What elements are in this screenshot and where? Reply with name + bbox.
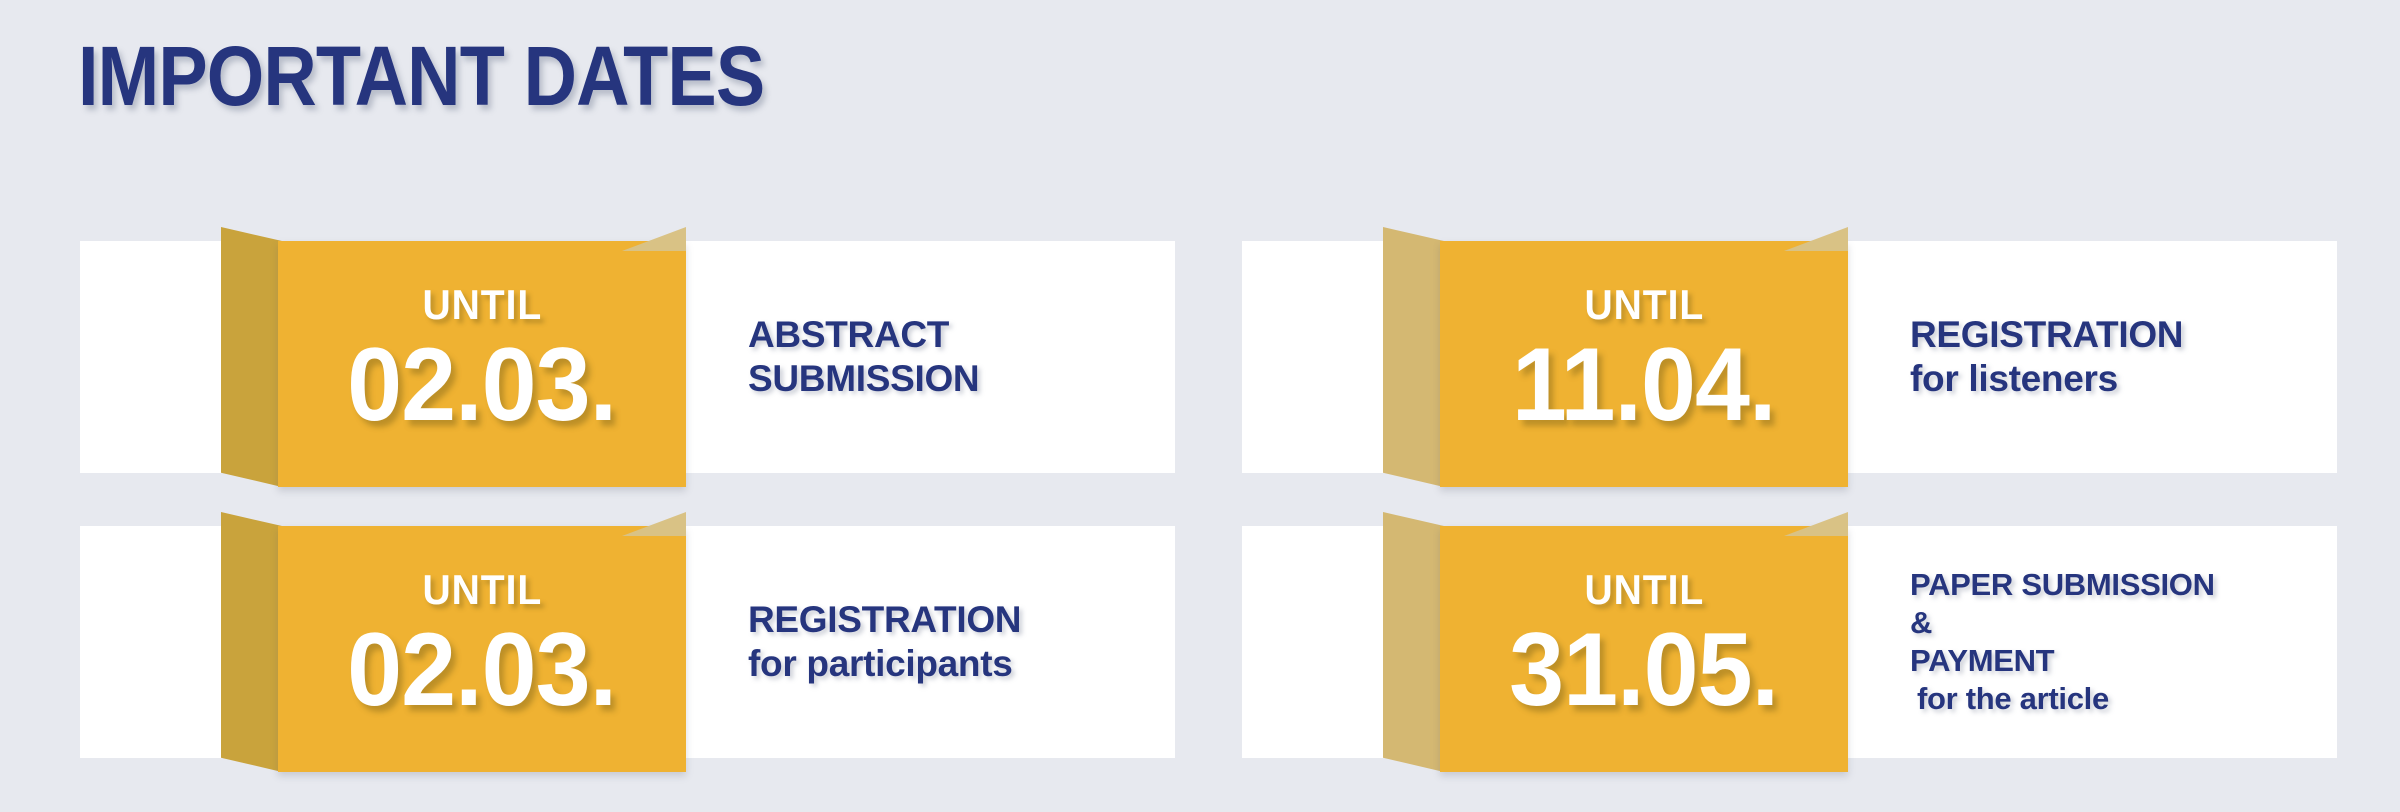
important-dates-page: IMPORTANT DATES UNTIL 02.03. ABSTRACT SU… bbox=[0, 0, 2400, 812]
card-label-line: REGISTRATION bbox=[1910, 313, 2330, 357]
ribbon-fold-left-icon bbox=[221, 227, 282, 487]
ribbon-until-label: UNTIL bbox=[1584, 284, 1704, 326]
ribbon-date-value: 31.05. bbox=[1510, 617, 1779, 723]
card-label-line: for listeners bbox=[1910, 357, 2330, 401]
ribbon-until-label: UNTIL bbox=[422, 569, 542, 611]
card-label: ABSTRACT SUBMISSION bbox=[748, 241, 1168, 473]
date-card-registration-participants: UNTIL 02.03. REGISTRATION for participan… bbox=[80, 526, 1175, 758]
date-ribbon: UNTIL 31.05. bbox=[1383, 512, 1848, 772]
card-label-line: ABSTRACT bbox=[748, 313, 1168, 357]
card-label-line: for the article bbox=[1910, 680, 2330, 718]
ribbon-fold-left-icon bbox=[221, 512, 282, 772]
card-label-line: PAPER SUBMISSION bbox=[1910, 566, 2330, 604]
ribbon-text: UNTIL 02.03. bbox=[278, 526, 686, 772]
date-card-abstract-submission: UNTIL 02.03. ABSTRACT SUBMISSION bbox=[80, 241, 1175, 473]
ribbon-date-value: 02.03. bbox=[348, 617, 617, 723]
card-label: PAPER SUBMISSION & PAYMENT for the artic… bbox=[1910, 526, 2330, 758]
date-card-registration-listeners: UNTIL 11.04. REGISTRATION for listeners bbox=[1242, 241, 2337, 473]
ribbon-date-value: 02.03. bbox=[348, 332, 617, 438]
ribbon-text: UNTIL 11.04. bbox=[1440, 241, 1848, 487]
card-label: REGISTRATION for participants bbox=[748, 526, 1168, 758]
ribbon-fold-left-icon bbox=[1383, 512, 1444, 772]
ribbon-date-value: 11.04. bbox=[1512, 332, 1776, 438]
card-label: REGISTRATION for listeners bbox=[1910, 241, 2330, 473]
ribbon-until-label: UNTIL bbox=[422, 284, 542, 326]
card-label-line: PAYMENT bbox=[1910, 642, 2330, 680]
card-label-line: REGISTRATION bbox=[748, 598, 1168, 642]
date-ribbon: UNTIL 11.04. bbox=[1383, 227, 1848, 487]
ribbon-text: UNTIL 31.05. bbox=[1440, 526, 1848, 772]
card-label-line: & bbox=[1910, 604, 2330, 642]
date-ribbon: UNTIL 02.03. bbox=[221, 227, 686, 487]
page-title: IMPORTANT DATES bbox=[78, 28, 764, 125]
ribbon-fold-left-icon bbox=[1383, 227, 1444, 487]
ribbon-text: UNTIL 02.03. bbox=[278, 241, 686, 487]
date-card-paper-submission-payment: UNTIL 31.05. PAPER SUBMISSION & PAYMENT … bbox=[1242, 526, 2337, 758]
date-ribbon: UNTIL 02.03. bbox=[221, 512, 686, 772]
card-label-line: SUBMISSION bbox=[748, 357, 1168, 401]
card-label-line: for participants bbox=[748, 642, 1168, 686]
ribbon-until-label: UNTIL bbox=[1584, 569, 1704, 611]
